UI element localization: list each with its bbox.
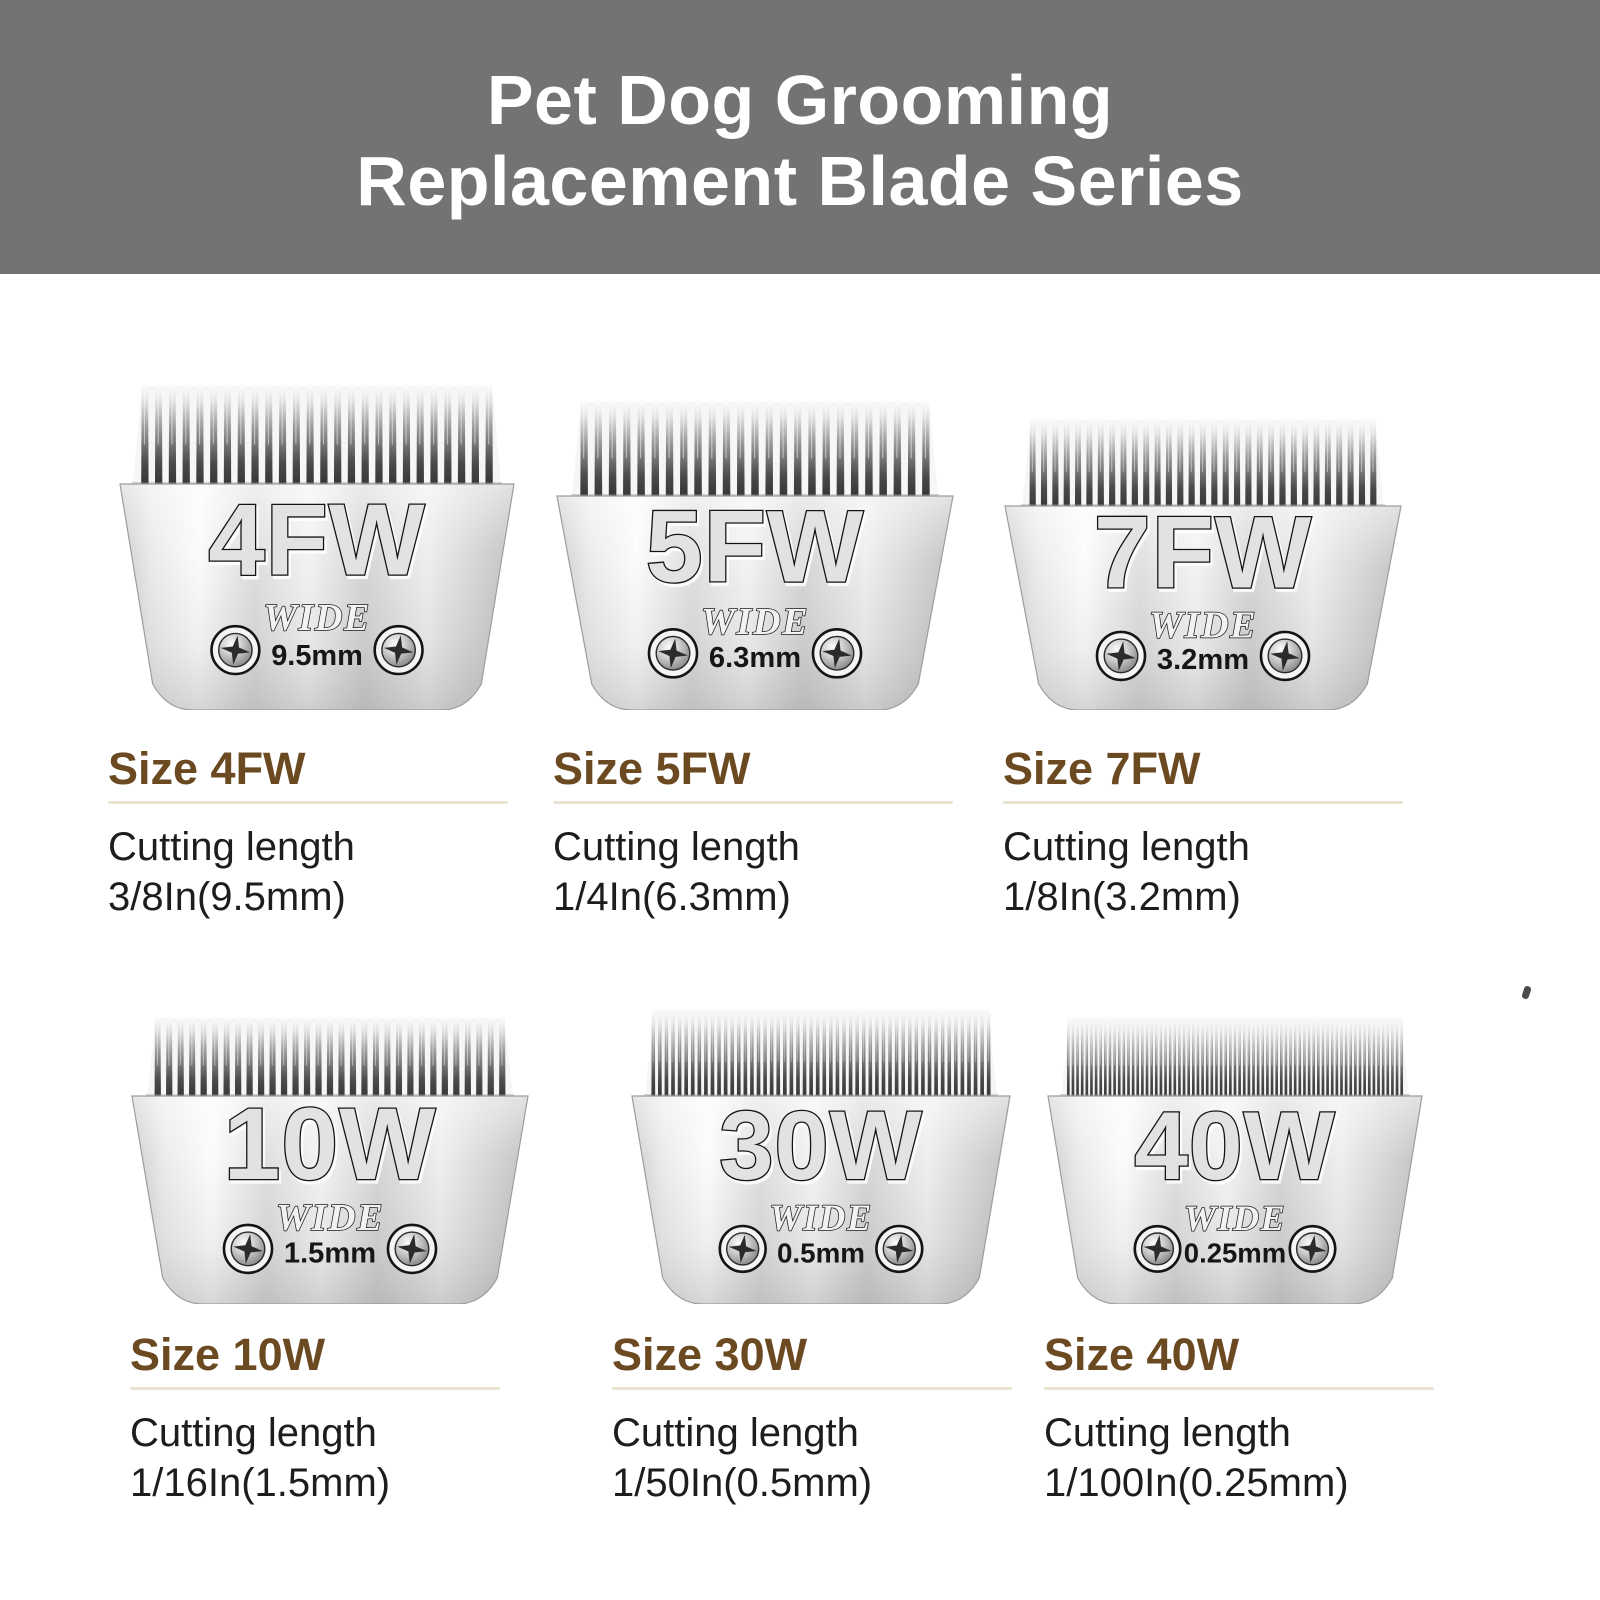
blade-figure-7fw: 7FW7FWWIDE3.2mm <box>1003 414 1403 710</box>
title-rule-40w <box>1044 1387 1434 1390</box>
blade-comb-teeth <box>132 384 502 496</box>
blade-wide-engraving: WIDE <box>263 597 371 639</box>
cutting-length-label-10w: Cutting length <box>130 1410 520 1456</box>
title-rule-4fw <box>108 801 508 804</box>
blade-figure-5fw: 5FW5FWWIDE6.3mm <box>555 396 955 710</box>
size-title-7fw: Size 7FW <box>1003 746 1423 791</box>
cutting-length-label-30w: Cutting length <box>612 1410 1032 1456</box>
cutting-length-value-40w: 1/100In(0.25mm) <box>1044 1460 1454 1506</box>
blade-mm-engraving: 1.5mm <box>284 1237 376 1269</box>
blade-image-10w: 10W10WWIDE1.5mm <box>130 1012 530 1304</box>
size-title-4fw: Size 4FW <box>108 746 528 791</box>
blade-image-30w: 30W30WWIDE0.5mm <box>630 1004 1012 1304</box>
blade-caption-7fw: Size 7FWCutting length1/8In(3.2mm) <box>1003 746 1423 921</box>
blade-engraved-label: 7FW7FW <box>1094 496 1314 613</box>
blade-screw <box>720 1226 766 1272</box>
cutting-length-value-5fw: 1/4In(6.3mm) <box>553 874 973 920</box>
blade-screw <box>224 1225 272 1273</box>
title-rule-7fw <box>1003 801 1403 804</box>
blade-image-4fw: 4FW4FWWIDE9.5mm <box>118 380 516 710</box>
title-rule-5fw <box>553 801 953 804</box>
svg-text:7FW: 7FW <box>1094 496 1312 610</box>
cutting-length-value-4fw: 3/8In(9.5mm) <box>108 874 528 920</box>
blade-screw <box>1135 1226 1180 1271</box>
cutting-length-value-30w: 1/50In(0.5mm) <box>612 1460 1032 1506</box>
cutting-length-label-7fw: Cutting length <box>1003 824 1423 870</box>
blade-mm-engraving: 9.5mm <box>271 640 363 672</box>
blade-screw <box>1097 632 1145 680</box>
blade-mm-engraving: 6.3mm <box>709 642 801 674</box>
blade-figure-4fw: 4FW4FWWIDE9.5mm <box>118 380 516 710</box>
svg-text:30W: 30W <box>719 1091 922 1200</box>
svg-text:5FW: 5FW <box>646 490 864 604</box>
blade-figure-10w: 10W10WWIDE1.5mm <box>130 1012 530 1304</box>
blade-figure-40w: 40W40WWIDE0.25mm <box>1046 1012 1424 1304</box>
blade-screw <box>649 629 697 677</box>
blade-mm-engraving: 3.2mm <box>1157 644 1249 676</box>
blade-caption-40w: Size 40WCutting length1/100In(0.25mm) <box>1044 1332 1454 1507</box>
cutting-length-value-7fw: 1/8In(3.2mm) <box>1003 874 1423 920</box>
blade-caption-10w: Size 10WCutting length1/16In(1.5mm) <box>130 1332 520 1507</box>
blade-caption-4fw: Size 4FWCutting length3/8In(9.5mm) <box>108 746 528 921</box>
blade-mm-engraving: 0.5mm <box>777 1237 865 1268</box>
svg-text:4FW: 4FW <box>208 482 425 596</box>
blade-screw <box>876 1226 922 1272</box>
blade-image-5fw: 5FW5FWWIDE6.3mm <box>555 396 955 710</box>
header-banner: Pet Dog Grooming Replacement Blade Serie… <box>0 0 1600 274</box>
svg-text:40W: 40W <box>1134 1093 1335 1200</box>
blade-wide-engraving: WIDE <box>1184 1198 1286 1238</box>
blade-image-7fw: 7FW7FWWIDE3.2mm <box>1003 414 1403 710</box>
cutting-length-label-4fw: Cutting length <box>108 824 528 870</box>
cutting-length-label-40w: Cutting length <box>1044 1410 1454 1456</box>
title-rule-30w <box>612 1387 1012 1390</box>
blade-engraved-label: 30W30W <box>719 1091 924 1203</box>
blade-caption-5fw: Size 5FWCutting length1/4In(6.3mm) <box>553 746 973 921</box>
blade-figure-30w: 30W30WWIDE0.5mm <box>630 1004 1012 1304</box>
cutting-length-label-5fw: Cutting length <box>553 824 973 870</box>
size-title-40w: Size 40W <box>1044 1332 1454 1377</box>
blade-engraved-label: 4FW4FW <box>208 482 427 599</box>
title-rule-10w <box>130 1387 500 1390</box>
blade-engraved-label: 10W10W <box>224 1087 439 1204</box>
size-title-30w: Size 30W <box>612 1332 1032 1377</box>
blade-screw <box>1261 632 1309 680</box>
blade-engraved-label: 40W40W <box>1134 1093 1337 1203</box>
blade-mm-engraving: 0.25mm <box>1184 1237 1286 1268</box>
blade-wide-engraving: WIDE <box>276 1197 384 1239</box>
blade-engraved-label: 5FW5FW <box>646 490 866 607</box>
blade-image-40w: 40W40WWIDE0.25mm <box>1046 1012 1424 1304</box>
blade-wide-engraving: WIDE <box>701 601 809 643</box>
page-title: Pet Dog Grooming Replacement Blade Serie… <box>356 52 1243 222</box>
blade-wide-engraving: WIDE <box>1149 605 1257 647</box>
blade-screw <box>388 1225 436 1273</box>
svg-text:10W: 10W <box>224 1087 437 1201</box>
size-title-10w: Size 10W <box>130 1332 520 1377</box>
blade-caption-30w: Size 30WCutting length1/50In(0.5mm) <box>612 1332 1032 1507</box>
blade-grid: 4FW4FWWIDE9.5mmSize 4FWCutting length3/8… <box>0 274 1600 1600</box>
blade-screw <box>813 629 861 677</box>
cutting-length-value-10w: 1/16In(1.5mm) <box>130 1460 520 1506</box>
size-title-5fw: Size 5FW <box>553 746 973 791</box>
blade-screw <box>1290 1226 1335 1271</box>
blade-screw <box>375 626 423 674</box>
blade-screw <box>212 626 260 674</box>
blade-wide-engraving: WIDE <box>769 1197 872 1238</box>
